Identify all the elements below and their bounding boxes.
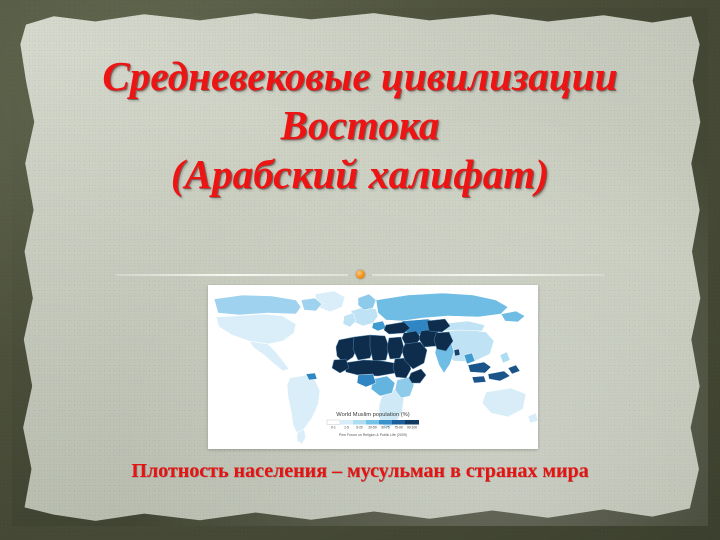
svg-text:20-50: 20-50 bbox=[368, 426, 377, 430]
svg-text:1-5: 1-5 bbox=[344, 426, 349, 430]
svg-text:75-90: 75-90 bbox=[394, 426, 403, 430]
title-line-2: Востока bbox=[28, 101, 692, 150]
svg-text:50-75: 50-75 bbox=[381, 426, 390, 430]
title-divider bbox=[115, 274, 605, 276]
svg-text:0-1: 0-1 bbox=[331, 426, 336, 430]
legend-source: Pew Forum on Religion & Public Life (200… bbox=[339, 433, 407, 437]
svg-text:5-20: 5-20 bbox=[356, 426, 363, 430]
title-line-1: Средневековые цивилизации bbox=[28, 52, 692, 101]
map-region-bangladesh bbox=[454, 349, 460, 356]
legend-title: World Muslim population (%) bbox=[336, 412, 409, 418]
svg-text:90-100: 90-100 bbox=[407, 426, 417, 430]
presentation-slide: Средневековые цивилизации Востока (Арабс… bbox=[0, 0, 720, 540]
map-legend: World Muslim population (%) 0-1 1-5 5-20… bbox=[327, 412, 419, 437]
slide-title: Средневековые цивилизации Востока (Арабс… bbox=[28, 52, 692, 199]
world-muslim-population-map: World Muslim population (%) 0-1 1-5 5-20… bbox=[208, 285, 538, 449]
title-line-3: (Арабский халифат) bbox=[28, 150, 692, 199]
map-svg: World Muslim population (%) 0-1 1-5 5-20… bbox=[208, 285, 538, 449]
divider-dot-icon bbox=[356, 270, 365, 279]
divider-rule-left bbox=[115, 274, 348, 276]
image-caption: Плотность населения – мусульман в страна… bbox=[20, 458, 700, 484]
divider-rule-right bbox=[372, 274, 605, 276]
legend-swatches bbox=[327, 420, 419, 425]
